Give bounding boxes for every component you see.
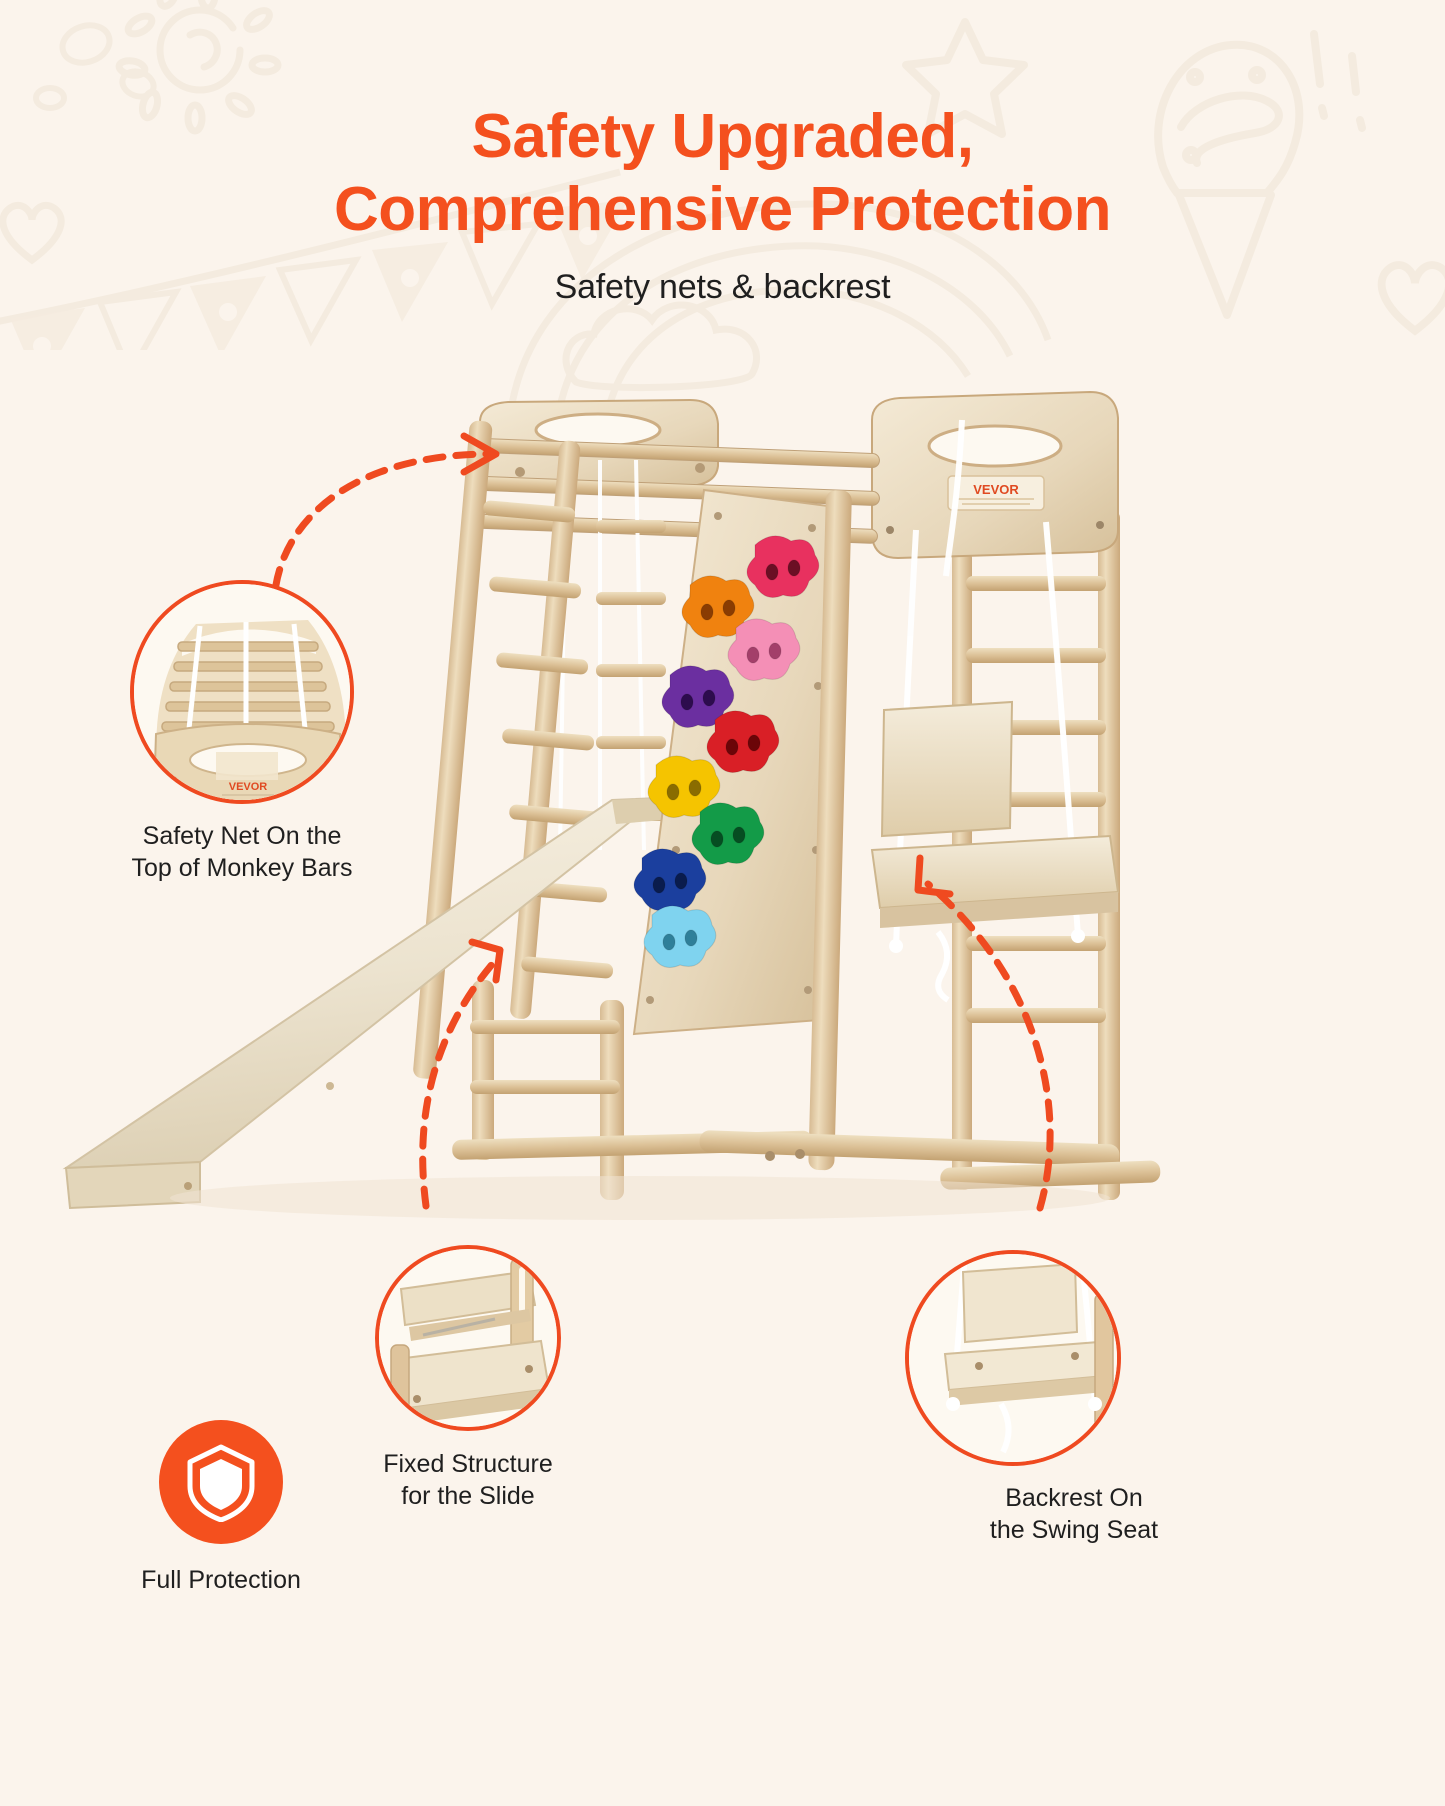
- badge-circle: [159, 1420, 283, 1544]
- callout-circle-backrest: [905, 1250, 1121, 1466]
- callout-safety-net-monkey-bars: VEVOR Safety Net On the Top of Monkey Ba…: [130, 580, 470, 920]
- headline-line-2: Comprehensive Protection: [0, 173, 1445, 246]
- header-block: Safety Upgraded, Comprehensive Protectio…: [0, 100, 1445, 307]
- full-protection-badge: Full Protection: [81, 1420, 361, 1596]
- infographic-canvas: Safety Upgraded, Comprehensive Protectio…: [0, 0, 1445, 1806]
- svg-text:VEVOR: VEVOR: [973, 482, 1019, 497]
- swing-backrest-detail-image: [909, 1254, 1121, 1466]
- callout-circle-safety-net: VEVOR: [130, 580, 354, 804]
- callout-caption-backrest: Backrest On the Swing Seat: [934, 1482, 1214, 1546]
- callout-caption-fixed-structure: Fixed Structure for the Slide: [328, 1448, 608, 1512]
- page-subtitle: Safety nets & backrest: [0, 268, 1445, 307]
- page-title: Safety Upgraded, Comprehensive Protectio…: [0, 100, 1445, 246]
- svg-text:VEVOR: VEVOR: [229, 781, 268, 793]
- callout-caption-safety-net: Safety Net On the Top of Monkey Bars: [102, 820, 382, 884]
- monkey-bars-detail-image: VEVOR: [134, 584, 354, 804]
- callout-circle-fixed-structure: [375, 1245, 561, 1431]
- brand-logo-plate: VEVOR: [948, 476, 1044, 510]
- headline-line-1: Safety Upgraded,: [0, 100, 1445, 173]
- shield-icon: [184, 1442, 258, 1522]
- callout-fixed-structure-slide: Fixed Structure for the Slide: [375, 1195, 675, 1525]
- slide-bracket-detail-image: [379, 1249, 561, 1431]
- swing-frame-top: VEVOR: [872, 392, 1118, 558]
- rock-climbing-wall: [634, 490, 828, 1034]
- callout-backrest-swing-seat: Backrest On the Swing Seat: [905, 1210, 1215, 1540]
- badge-caption: Full Protection: [81, 1564, 361, 1596]
